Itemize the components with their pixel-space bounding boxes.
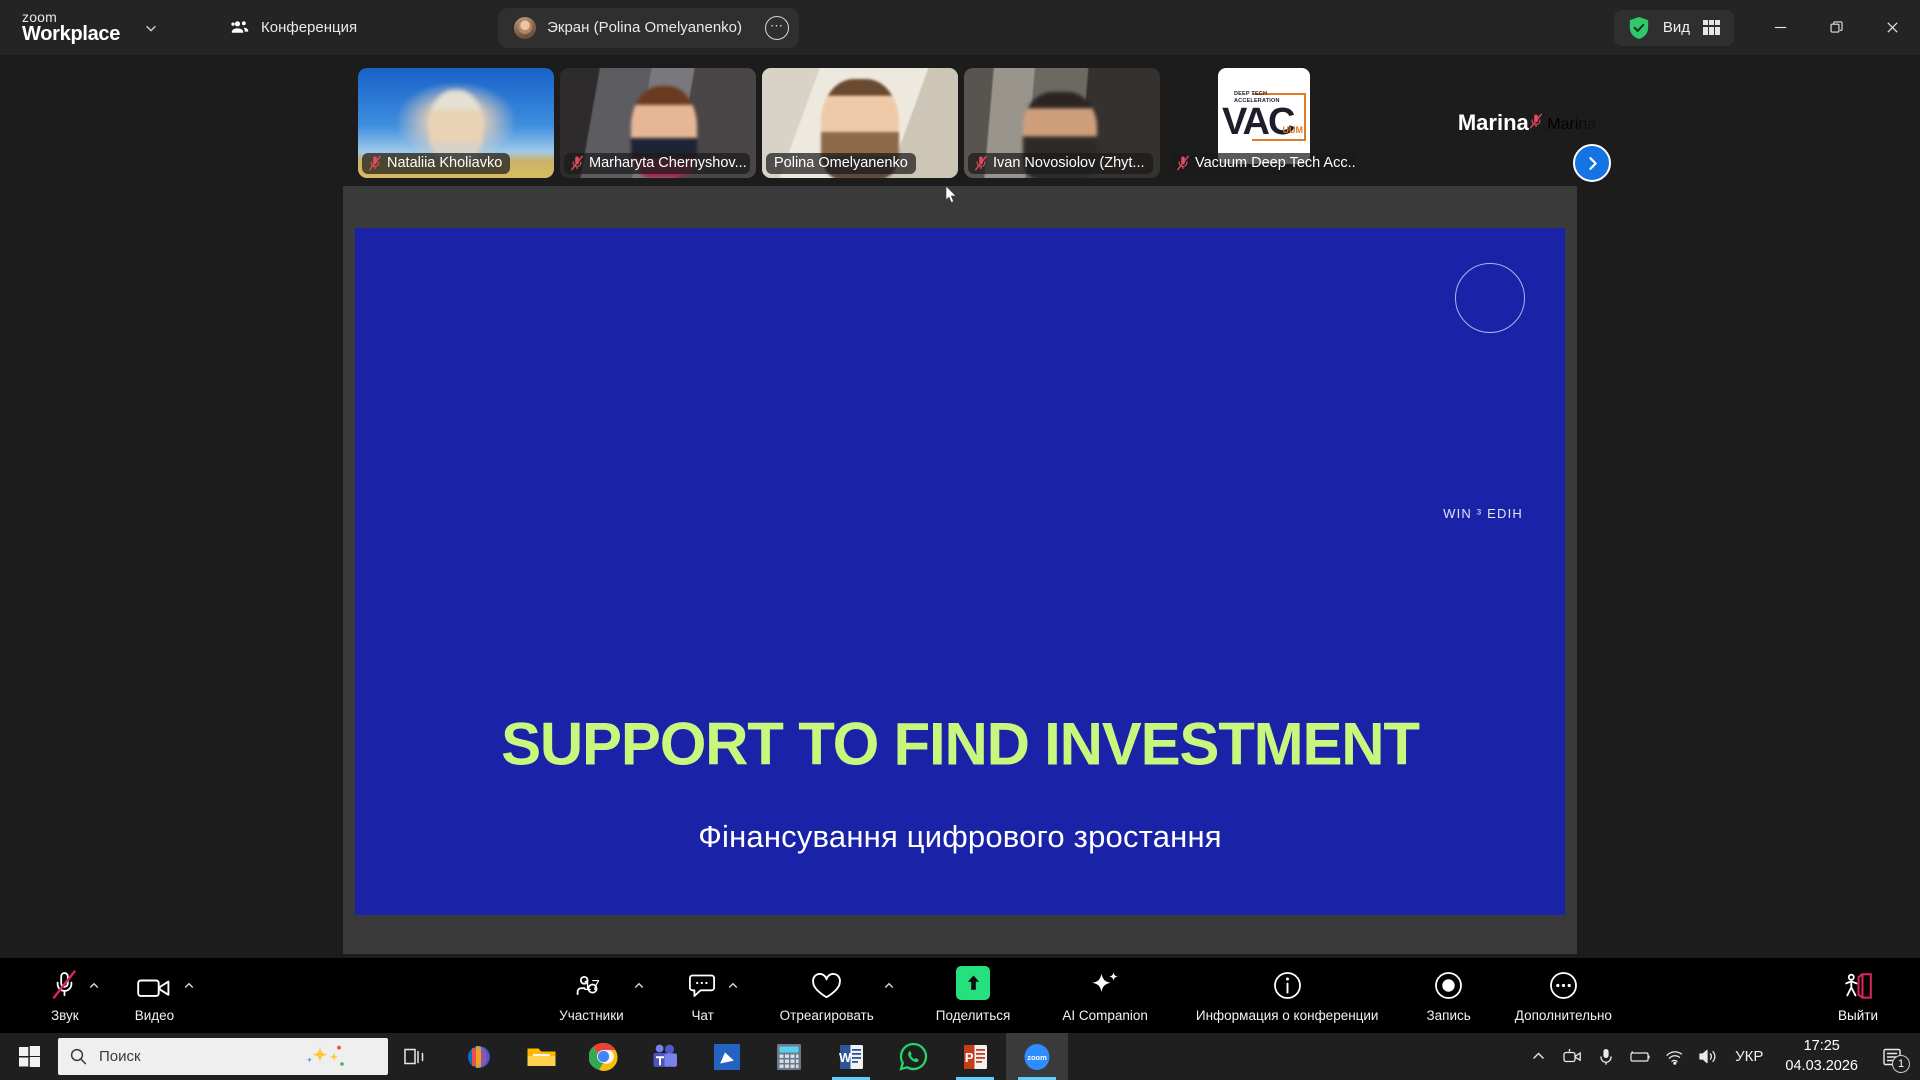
participant-name: Nataliia Kholiavko	[387, 155, 502, 171]
taskbar-app-microsoft-word[interactable]: W	[820, 1033, 882, 1080]
zoom-logo: zoom Workplace	[22, 10, 128, 46]
view-button-label: Вид	[1663, 19, 1690, 36]
taskbar-app-file-explorer[interactable]	[510, 1033, 572, 1080]
view-button[interactable]: Вид	[1614, 10, 1734, 46]
share-screen-button-label: Поделиться	[936, 1008, 1011, 1023]
taskbar-app-google-chrome[interactable]	[572, 1033, 634, 1080]
filmstrip-tiles: Nataliia Kholiavko Marharyta Chernyshov.…	[358, 68, 1686, 178]
task-view-icon[interactable]	[388, 1033, 442, 1080]
video-tile-ivan[interactable]: Ivan Novosiolov (Zhyt...	[964, 68, 1160, 178]
mouse-cursor	[945, 186, 957, 204]
chevron-up-icon[interactable]	[1521, 1033, 1555, 1080]
logo-suffix: UUM	[1283, 125, 1304, 135]
tab-screen-share[interactable]: Экран (Polina Omelyanenko) ⋯	[498, 8, 799, 48]
taskbar-app-whatsapp[interactable]	[882, 1033, 944, 1080]
participants-button[interactable]: 17 Участники	[553, 958, 630, 1033]
close-button[interactable]	[1864, 0, 1920, 55]
video-tile-marina[interactable]: Marina Marina	[1368, 68, 1686, 178]
video-tile-nataliia[interactable]: Nataliia Kholiavko	[358, 68, 554, 178]
more-button[interactable]: Дополнительно	[1509, 958, 1618, 1033]
participants-options-chevron[interactable]	[630, 958, 648, 1033]
heart-reaction-icon	[811, 969, 842, 1000]
svg-text:zoom: zoom	[1027, 1053, 1047, 1062]
taskbar-apps: W P	[448, 1033, 1068, 1080]
ai-companion-button-label: AI Companion	[1062, 1008, 1148, 1023]
record-button-label: Запись	[1426, 1008, 1470, 1023]
more-button-label: Дополнительно	[1515, 1008, 1612, 1023]
participant-name-badge: Marharyta Chernyshov...	[564, 153, 750, 174]
microphone-muted-icon	[368, 155, 382, 171]
clock-date: 04.03.2026	[1785, 1057, 1858, 1077]
microphone-icon[interactable]	[1589, 1033, 1623, 1080]
participant-avatar	[514, 17, 536, 39]
meeting-info-button-label: Информация о конференции	[1196, 1008, 1379, 1023]
video-button-label: Видео	[135, 1008, 174, 1023]
clock[interactable]: 17:25 04.03.2026	[1773, 1037, 1870, 1076]
notification-count: 1	[1892, 1055, 1910, 1073]
taskbar-app-microsoft-teams[interactable]	[634, 1033, 696, 1080]
leave-door-icon	[1842, 969, 1874, 1000]
windows-taskbar: Поиск	[0, 1033, 1920, 1080]
audio-button[interactable]: Звук	[45, 958, 85, 1033]
filmstrip-next-button[interactable]	[1573, 144, 1611, 182]
participant-name: Polina Omelyanenko	[774, 155, 908, 171]
vacuum-logo: DEEP TECH ACCELERATION VAC UUM	[1218, 83, 1310, 149]
win-edih-circle	[1455, 263, 1525, 333]
participant-name: Vacuum Deep Tech Acc...	[1195, 155, 1356, 171]
participants-button-label: Участники	[559, 1008, 624, 1023]
info-circle-icon	[1273, 969, 1302, 1000]
slide-title: SUPPORT TO FIND INVESTMENT	[355, 710, 1565, 779]
more-ellipsis-icon	[1549, 969, 1578, 1000]
microphone-muted-icon	[51, 969, 78, 1000]
participant-display-name: Marina	[1458, 110, 1529, 136]
tab-conference[interactable]: Конференция	[214, 8, 373, 48]
company-logo-card: DEEP TECH ACCELERATION VAC UUM	[1218, 68, 1310, 164]
search-icon	[70, 1048, 87, 1065]
reactions-options-chevron[interactable]	[880, 958, 898, 1033]
slide-subtitle: Фінансування цифрового зростання	[355, 819, 1565, 855]
volume-icon[interactable]	[1691, 1033, 1725, 1080]
audio-button-label: Звук	[51, 1008, 79, 1023]
participant-filmstrip: Nataliia Kholiavko Marharyta Chernyshov.…	[0, 55, 1920, 185]
wifi-icon[interactable]	[1657, 1033, 1691, 1080]
taskbar-app-microsoft-powerpoint[interactable]: P	[944, 1033, 1006, 1080]
svg-text:P: P	[964, 1050, 973, 1065]
video-tile-marharyta[interactable]: Marharyta Chernyshov...	[560, 68, 756, 178]
search-input[interactable]: Поиск	[58, 1038, 388, 1075]
zoom-logo-line1: zoom	[22, 10, 128, 25]
share-screen-icon	[956, 969, 990, 1000]
participant-name: Marharyta Chernyshov...	[589, 155, 747, 171]
search-placeholder: Поиск	[99, 1048, 141, 1065]
taskbar-app-copilot[interactable]	[448, 1033, 510, 1080]
windows-start-icon[interactable]	[0, 1033, 58, 1080]
video-options-chevron[interactable]	[180, 958, 198, 1033]
title-bar-right: Вид	[1614, 0, 1920, 55]
tab-more-options-icon[interactable]: ⋯	[765, 16, 789, 40]
chevron-down-icon[interactable]	[138, 15, 164, 41]
people-group-icon	[230, 18, 250, 38]
microphone-muted-icon	[974, 155, 988, 171]
leave-meeting-button[interactable]: Выйти	[1832, 958, 1884, 1033]
presentation-slide: WIN ³ EDIH SUPPORT TO FIND INVESTMENT Фі…	[355, 228, 1565, 915]
participant-name-badge: Vacuum Deep Tech Acc...	[1170, 153, 1356, 174]
win-edih-badge: WIN ³ EDIH	[1443, 506, 1523, 521]
chat-icon	[688, 969, 718, 1000]
reactions-button-label: Отреагировать	[780, 1008, 874, 1023]
participant-name-badge: Ivan Novosiolov (Zhyt...	[968, 153, 1153, 174]
grid-view-icon	[1703, 20, 1720, 35]
participant-name-badge: Polina Omelyanenko	[766, 153, 916, 174]
share-screen-button[interactable]: Поделиться	[930, 958, 1017, 1033]
leave-meeting-label: Выйти	[1838, 1008, 1878, 1023]
taskbar-app-zoom[interactable]: zoom	[1006, 1033, 1068, 1080]
participant-name: Ivan Novosiolov (Zhyt...	[993, 155, 1145, 171]
reactions-button[interactable]: Отреагировать	[774, 958, 880, 1033]
shield-check-icon	[1628, 16, 1650, 40]
video-button[interactable]: Видео	[129, 958, 180, 1033]
title-bar: zoom Workplace Конференция Экран (Polina…	[0, 0, 1920, 55]
microphone-muted-icon	[1176, 155, 1190, 171]
system-tray: УКР 17:25 04.03.2026 1	[1521, 1033, 1920, 1080]
taskbar-app-snipping-tool[interactable]	[696, 1033, 758, 1080]
tab-conference-label: Конференция	[261, 19, 357, 36]
chat-button[interactable]: Чат	[682, 958, 724, 1033]
participants-count: 17	[583, 977, 600, 994]
microphone-muted-icon	[1529, 113, 1543, 129]
clock-time: 17:25	[1785, 1037, 1858, 1057]
audio-options-chevron[interactable]	[85, 958, 103, 1033]
record-button[interactable]: Запись	[1420, 958, 1476, 1033]
battery-charging-icon[interactable]	[1623, 1033, 1657, 1080]
meeting-info-button[interactable]: Информация о конференции	[1190, 958, 1385, 1033]
restore-button[interactable]	[1808, 0, 1864, 55]
notification-icon[interactable]: 1	[1870, 1033, 1914, 1080]
chat-button-label: Чат	[691, 1008, 713, 1023]
camera-icon[interactable]	[1555, 1033, 1589, 1080]
video-tile-polina[interactable]: Polina Omelyanenko	[762, 68, 958, 178]
chevron-right-icon	[1584, 155, 1601, 172]
chat-options-chevron[interactable]	[724, 958, 742, 1033]
language-indicator[interactable]: УКР	[1725, 1048, 1773, 1065]
logo-line1: DEEP TECH	[1234, 91, 1286, 98]
svg-text:W: W	[839, 1050, 852, 1065]
participant-name-badge: Nataliia Kholiavko	[362, 153, 510, 174]
microphone-muted-icon	[570, 155, 584, 171]
video-tile-vacuum[interactable]: DEEP TECH ACCELERATION VAC UUM Vacuum De…	[1166, 68, 1362, 178]
meeting-control-bar: Звук Видео 17	[0, 958, 1920, 1033]
zoom-logo-line2: Workplace	[22, 24, 128, 45]
ai-companion-button[interactable]: AI Companion	[1056, 958, 1154, 1033]
ai-sparkle-icon	[1088, 969, 1122, 1000]
minimize-button[interactable]	[1752, 0, 1808, 55]
record-icon	[1434, 969, 1463, 1000]
tab-screen-share-label: Экран (Polina Omelyanenko)	[547, 19, 742, 36]
logo-mark: VAC	[1222, 103, 1293, 141]
taskbar-app-calculator[interactable]	[758, 1033, 820, 1080]
camera-icon	[137, 969, 171, 1000]
sparkle-icon	[294, 1044, 350, 1070]
